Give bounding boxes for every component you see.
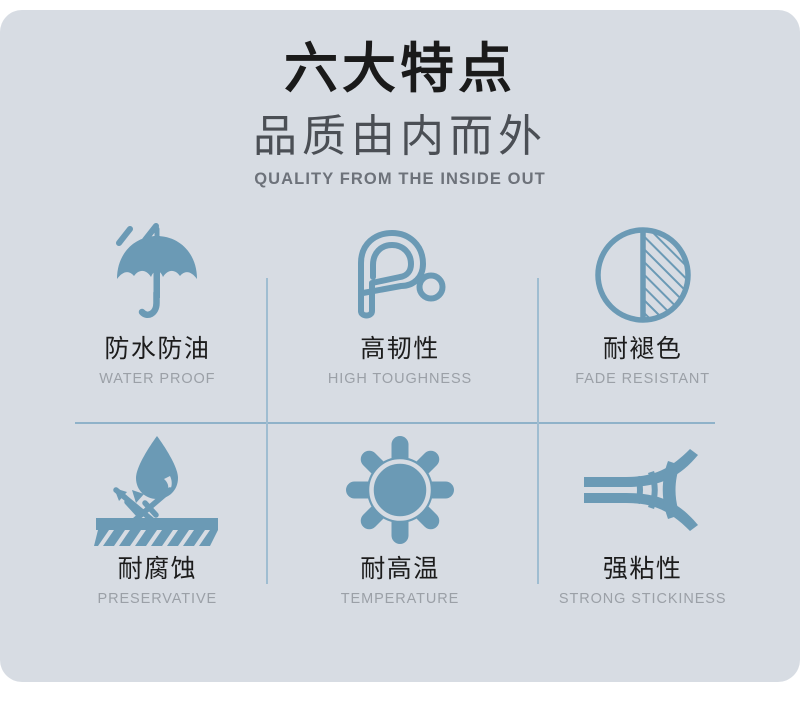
feature-label-cn: 耐褪色: [603, 334, 683, 364]
feature-label-en: FADE RESISTANT: [575, 371, 710, 388]
subtitle-chinese: 品质由内而外: [0, 110, 800, 164]
page-title: 六大特点: [0, 38, 800, 100]
umbrella-rain-icon: [101, 216, 213, 334]
header: 六大特点 品质由内而外 QUALITY FROM THE INSIDE OUT: [0, 10, 800, 189]
feature-item-temperature: 耐高温 TEMPERATURE: [279, 426, 522, 636]
sun-icon: [346, 426, 454, 554]
feature-label-cn: 耐高温: [360, 554, 440, 584]
feature-label-cn: 防水防油: [104, 334, 210, 364]
feature-item-preservative: 耐腐蚀 PRESERVATIVE: [36, 426, 279, 636]
feature-label-en: WATER PROOF: [99, 371, 215, 388]
half-hatched-circle-icon: [592, 216, 694, 334]
feature-item-fade-resistant: 耐褪色 FADE RESISTANT: [521, 216, 764, 426]
feature-label-en: PRESERVATIVE: [98, 591, 218, 608]
feature-item-water-proof: 防水防油 WATER PROOF: [36, 216, 279, 426]
feature-item-strong-stickiness: 强粘性 STRONG STICKINESS: [521, 426, 764, 636]
stretching-adhesive-icon: [582, 426, 704, 554]
feature-label-cn: 高韧性: [360, 334, 440, 364]
feature-label-cn: 耐腐蚀: [118, 554, 198, 584]
feature-label-en: STRONG STICKINESS: [559, 591, 727, 608]
bent-strip-icon: [345, 216, 455, 334]
feature-label-en: TEMPERATURE: [341, 591, 459, 608]
features-grid: 防水防油 WATER PROOF 高韧性 HIGH TOUGHNESS: [36, 216, 764, 636]
feature-label-en: HIGH TOUGHNESS: [328, 371, 472, 388]
feature-label-cn: 强粘性: [603, 554, 683, 584]
feature-card: 六大特点 品质由内而外 QUALITY FROM THE INSIDE OUT: [0, 10, 800, 682]
subtitle-english: QUALITY FROM THE INSIDE OUT: [0, 169, 800, 189]
droplet-repellent-surface-icon: [94, 426, 220, 554]
feature-item-high-toughness: 高韧性 HIGH TOUGHNESS: [279, 216, 522, 426]
